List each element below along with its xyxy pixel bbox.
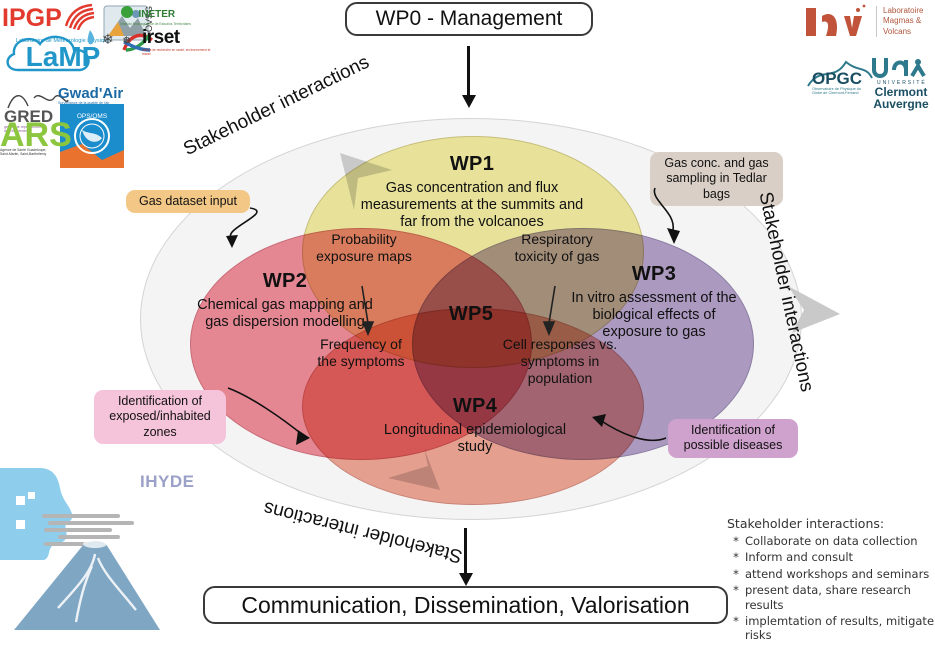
bullet-icon: * xyxy=(727,534,745,548)
list-item-label: present data, share research results xyxy=(745,583,935,612)
bottom-banner-label: Communication, Dissemination, Valorisati… xyxy=(241,592,689,619)
logo-irset-sub: Institut de recherche en santé, environn… xyxy=(142,48,212,56)
logo-ineter-sub: Instituto Nicaragüense de Estudios Terri… xyxy=(120,22,208,26)
logo-ineter-mark xyxy=(120,5,134,19)
logo-uca-mark xyxy=(872,56,928,82)
logo-lmv: Laboratoire Magmas & Volcans xyxy=(876,6,935,37)
stakeholder-list-heading: Stakeholder interactions: xyxy=(727,516,935,531)
svg-text:❄: ❄ xyxy=(102,32,114,48)
bullet-icon: * xyxy=(727,567,745,581)
callout-gas-dataset-input-text: Gas dataset input xyxy=(139,194,237,208)
list-item-label: Inform and consult xyxy=(745,550,853,564)
list-item: * present data, share research results xyxy=(727,583,935,612)
callout-gas-dataset-input: Gas dataset input xyxy=(126,190,250,213)
logo-ineter: INETER Instituto Nicaragüense de Estudio… xyxy=(120,4,208,26)
logo-ops-oms-text: OPS/OMS xyxy=(77,113,108,120)
list-item: * Collaborate on data collection xyxy=(727,534,935,548)
logo-gwadair-text: Gwad'Air xyxy=(58,86,123,101)
list-item: * Inform and consult xyxy=(727,550,935,564)
logo-ars-sub: Agence de Santé Guadeloupe, Saint-Martin… xyxy=(0,148,48,156)
logo-opgc: OPGC Observatoire de Physique du Globe d… xyxy=(812,70,868,95)
callout-identification-possible-diseases: Identification of possible diseases xyxy=(668,419,798,458)
logo-opgc-text: OPGC xyxy=(812,70,868,87)
communication-dissemination-banner: Communication, Dissemination, Valorisati… xyxy=(203,586,728,624)
logo-uca: U N I V E R S I T É Clermont Auvergne xyxy=(870,80,932,110)
volcano-head-illustration xyxy=(0,462,160,630)
logo-lamp-weather-icons: ❄ ❅ xyxy=(84,28,140,52)
list-item: * implemtation of results, mitigate risk… xyxy=(727,614,935,643)
logo-irset: irset Institut de recherche en santé, en… xyxy=(142,28,212,56)
bullet-icon: * xyxy=(727,583,745,612)
wp0-banner-label: WP0 - Management xyxy=(376,7,563,31)
callout-identification-exposed-zones-text: Identification of exposed/inhabited zone… xyxy=(109,394,210,439)
stakeholder-interactions-list: Stakeholder interactions: * Collaborate … xyxy=(727,516,935,645)
list-item: * attend workshops and seminars xyxy=(727,567,935,581)
wp0-management-banner: WP0 - Management xyxy=(345,2,593,36)
svg-text:❅: ❅ xyxy=(122,34,131,47)
logo-opgc-sub: Observatoire de Physique du Globe de Cle… xyxy=(812,87,868,95)
logo-uca-line3: Auvergne xyxy=(870,98,932,110)
list-item-label: Collaborate on data collection xyxy=(745,534,918,548)
callout-identification-possible-diseases-text: Identification of possible diseases xyxy=(684,423,783,452)
bullet-icon: * xyxy=(727,550,745,564)
logo-lmv-sub: Laboratoire Magmas & Volcans xyxy=(883,6,935,37)
arrow-venn-to-bottom-banner xyxy=(459,528,473,586)
logo-ars: ARS Agence de Santé Guadeloupe, Saint-Ma… xyxy=(0,118,72,156)
bullet-icon: * xyxy=(727,614,745,643)
callout-identification-exposed-zones: Identification of exposed/inhabited zone… xyxy=(94,390,226,444)
logo-ineter-text: INETER xyxy=(138,9,175,20)
list-item-label: attend workshops and seminars xyxy=(745,567,929,581)
list-item-label: implemtation of results, mitigate risks xyxy=(745,614,935,643)
logo-irset-text: irset xyxy=(142,28,212,47)
logo-lmv-mark xyxy=(800,2,870,44)
arrow-wp0-to-venn xyxy=(462,46,476,108)
logo-gwadair: Gwad'Air Surveillance de la qualité de l… xyxy=(58,86,123,105)
